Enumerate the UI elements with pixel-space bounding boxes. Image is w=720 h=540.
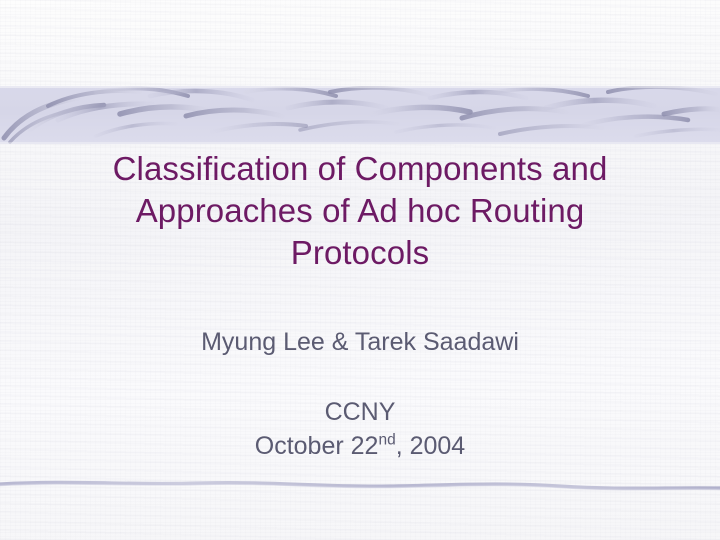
slide-title: Classification of Components and Approac… xyxy=(50,148,670,274)
title-line-3: Protocols xyxy=(50,232,670,274)
bottom-wave-divider xyxy=(0,472,720,500)
title-line-2: Approaches of Ad hoc Routing xyxy=(50,190,670,232)
banner-top-edge xyxy=(0,86,720,88)
organization-name: CCNY xyxy=(60,395,660,429)
banner-brush-strokes-graphic xyxy=(0,86,720,144)
decorative-banner xyxy=(0,86,720,144)
presentation-date: October 22nd, 2004 xyxy=(60,429,660,463)
banner-bottom-edge xyxy=(0,142,720,144)
presentation-slide: Classification of Components and Approac… xyxy=(0,0,720,540)
date-main-text: October 22 xyxy=(255,432,379,460)
bottom-wave-graphic xyxy=(0,472,720,500)
title-line-1: Classification of Components and xyxy=(50,148,670,190)
organization-block: CCNY October 22nd, 2004 xyxy=(60,395,660,463)
date-ordinal-suffix: nd xyxy=(378,432,395,449)
date-year-text: , 2004 xyxy=(396,432,466,460)
authors-line: Myung Lee & Tarek Saadawi xyxy=(60,326,660,358)
